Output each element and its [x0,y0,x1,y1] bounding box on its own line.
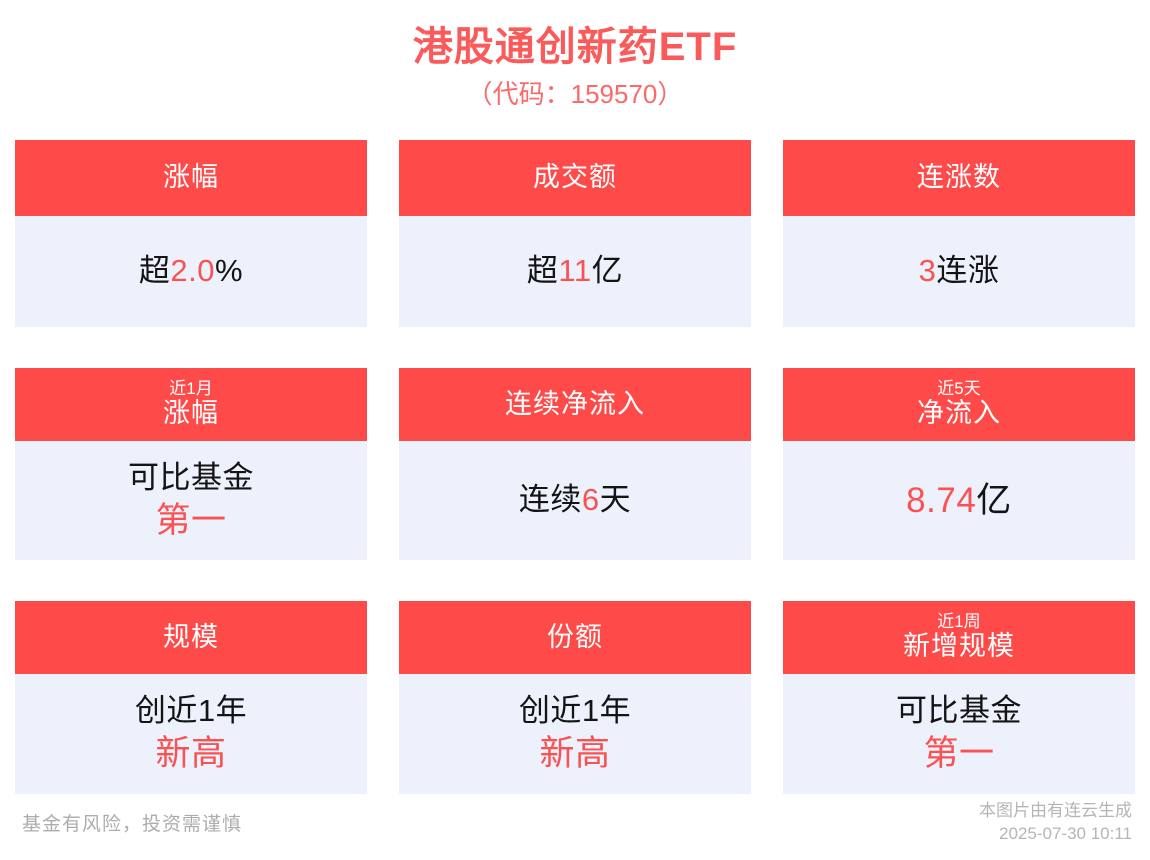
metric-value-text: 创近1年 [135,693,247,728]
metric-value-line: 超2.0% [139,251,243,291]
metric-value-highlight: 新高 [155,734,226,773]
metric-card: 涨幅超2.0% [15,140,367,327]
metric-value-highlight: 第一 [923,734,994,773]
metric-card-header: 规模 [15,601,367,674]
metric-card-body: 8.74亿 [783,441,1135,560]
metric-card-body: 可比基金第一 [783,674,1135,794]
metric-card-header-title: 涨幅 [163,162,219,193]
metric-value-highlight: 3 [919,253,937,288]
metric-card-header-period: 近5天 [937,380,980,398]
metric-value-line: 8.74亿 [906,478,1012,524]
metric-value-text: 超 [139,253,171,288]
metric-card: 近1月涨幅可比基金第一 [15,368,367,560]
metric-value-line: 连续6天 [519,480,631,520]
metric-value-line: 第一 [923,731,994,777]
metric-card-header: 近1月涨幅 [15,368,367,441]
metric-value-text: % [215,253,243,288]
metric-card-header: 连涨数 [783,140,1135,216]
metric-value-text: 可比基金 [896,693,1022,728]
footer-source-block: 本图片由有连云生成 2025-07-30 10:11 [979,800,1132,846]
metric-card-header: 涨幅 [15,140,367,216]
metric-card-header: 近5天净流入 [783,368,1135,441]
metric-value-text: 超 [527,253,559,288]
metric-value-text: 可比基金 [128,460,254,495]
metric-card-header-period: 近1周 [937,613,980,631]
metric-card-header-title: 连涨数 [917,162,1001,193]
metric-value-text: 亿 [976,481,1012,520]
metric-card-body: 可比基金第一 [15,441,367,560]
metric-value-line: 新高 [155,731,226,777]
metric-value-text: 连续 [519,482,582,517]
metric-card-body: 超11亿 [399,216,751,327]
page-header: 港股通创新药ETF （代码：159570） [0,0,1150,111]
metric-card-body: 3连涨 [783,216,1135,327]
metric-card: 规模创近1年新高 [15,601,367,794]
metric-card-header-title: 净流入 [917,398,1001,429]
metric-card-header-title: 规模 [163,622,219,653]
metric-card-header-title: 份额 [547,622,603,653]
metric-card: 份额创近1年新高 [399,601,751,794]
metric-card-header: 成交额 [399,140,751,216]
metric-card-grid: 涨幅超2.0%成交额超11亿连涨数3连涨近1月涨幅可比基金第一连续净流入连续6天… [15,140,1135,794]
metric-card-header-title: 涨幅 [163,398,219,429]
metric-card-header-title: 新增规模 [903,631,1015,662]
metric-card-body: 创近1年新高 [15,674,367,794]
metric-value-line: 3连涨 [919,251,1000,291]
metric-value-line: 可比基金 [128,458,254,498]
metric-card-header: 连续净流入 [399,368,751,441]
metric-value-line: 新高 [539,731,610,777]
metric-card-body: 连续6天 [399,441,751,560]
metric-card-header: 近1周新增规模 [783,601,1135,674]
metric-card-body: 超2.0% [15,216,367,327]
metric-value-text: 亿 [592,253,624,288]
metric-card-header: 份额 [399,601,751,674]
metric-value-text: 连涨 [936,253,999,288]
metric-card: 连涨数3连涨 [783,140,1135,327]
metric-value-highlight: 8.74 [906,481,976,520]
metric-value-text: 创近1年 [519,693,631,728]
metric-value-highlight: 6 [582,482,600,517]
metric-value-line: 创近1年 [135,691,247,731]
page-title: 港股通创新药ETF [0,22,1150,72]
footer-disclaimer: 基金有风险，投资需谨慎 [22,809,242,836]
metric-value-text: 天 [600,482,632,517]
metric-card-header-title: 成交额 [533,162,617,193]
metric-value-line: 可比基金 [896,691,1022,731]
metric-card: 成交额超11亿 [399,140,751,327]
metric-value-highlight: 2.0 [170,253,215,288]
footer-timestamp: 2025-07-30 10:11 [979,823,1132,846]
metric-card: 近5天净流入8.74亿 [783,368,1135,560]
metric-card: 连续净流入连续6天 [399,368,751,560]
metric-card: 近1周新增规模可比基金第一 [783,601,1135,794]
metric-value-line: 第一 [155,498,226,544]
page-subtitle-code: （代码：159570） [0,78,1150,111]
metric-card-body: 创近1年新高 [399,674,751,794]
footer-source: 本图片由有连云生成 [979,800,1132,823]
metric-value-line: 超11亿 [527,251,623,291]
metric-value-highlight: 新高 [539,734,610,773]
metric-value-highlight: 11 [558,253,591,288]
metric-card-header-period: 近1月 [169,380,212,398]
metric-value-line: 创近1年 [519,691,631,731]
metric-value-highlight: 第一 [155,501,226,540]
metric-card-header-title: 连续净流入 [505,389,645,420]
